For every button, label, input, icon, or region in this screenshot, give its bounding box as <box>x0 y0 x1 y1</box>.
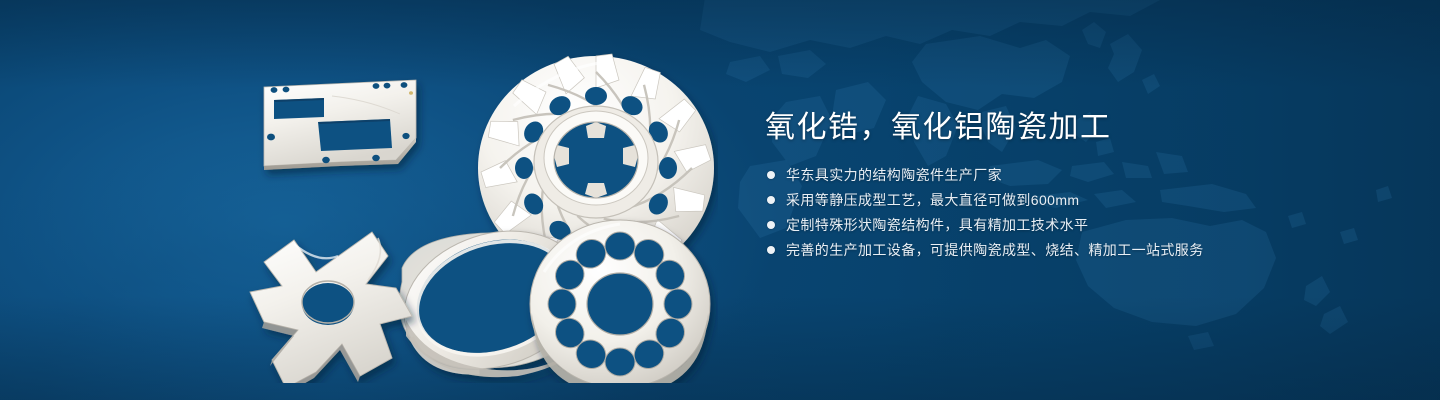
bullet-dot-icon <box>767 221 775 229</box>
list-item: 采用等静压成型工艺，最大直径可做到600mm <box>765 192 1385 208</box>
list-item: 华东具实力的结构陶瓷件生产厂家 <box>765 167 1385 183</box>
banner-copy: 氧化锆，氧化铝陶瓷加工 华东具实力的结构陶瓷件生产厂家 采用等静压成型工艺，最大… <box>765 110 1385 267</box>
ceramic-perforated-disc-part <box>530 220 710 383</box>
list-item-label: 采用等静压成型工艺，最大直径可做到600mm <box>786 192 1079 208</box>
ceramic-products-image <box>228 38 718 383</box>
feature-list: 华东具实力的结构陶瓷件生产厂家 采用等静压成型工艺，最大直径可做到600mm 定… <box>765 167 1385 258</box>
ceramic-cross-part <box>250 232 412 383</box>
list-item: 定制特殊形状陶瓷结构件，具有精加工技术水平 <box>765 217 1385 233</box>
bullet-dot-icon <box>767 196 775 204</box>
list-item-label: 完善的生产加工设备，可提供陶瓷成型、烧结、精加工一站式服务 <box>786 242 1204 258</box>
ceramic-plate-part <box>264 80 416 170</box>
bullet-dot-icon <box>767 246 775 254</box>
page-title: 氧化锆，氧化铝陶瓷加工 <box>765 110 1385 145</box>
list-item: 完善的生产加工设备，可提供陶瓷成型、烧结、精加工一站式服务 <box>765 242 1385 258</box>
bullet-dot-icon <box>767 171 775 179</box>
list-item-label: 华东具实力的结构陶瓷件生产厂家 <box>786 167 1002 183</box>
ceramic-processing-banner: 氧化锆，氧化铝陶瓷加工 华东具实力的结构陶瓷件生产厂家 采用等静压成型工艺，最大… <box>0 0 1440 400</box>
list-item-label: 定制特殊形状陶瓷结构件，具有精加工技术水平 <box>786 217 1088 233</box>
